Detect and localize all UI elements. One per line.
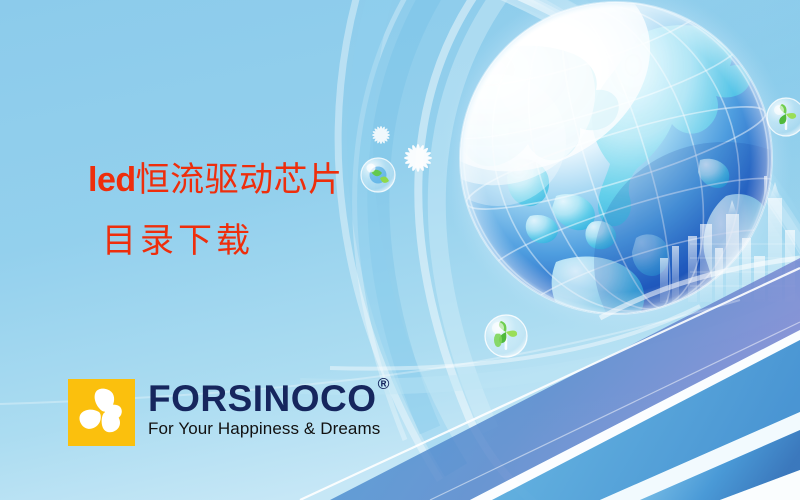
headline-latin: led: [88, 161, 136, 199]
four-petal-pinwheel-icon: [68, 379, 135, 446]
flower-sprite-large: [404, 144, 432, 172]
bubble-leaf: [767, 98, 800, 136]
slide-canvas: led恒流驱动芯片 目录下载 FORSINOCO® For Your Happi…: [0, 0, 800, 500]
registered-trademark-icon: ®: [378, 376, 390, 393]
bubble-windmill: [485, 315, 527, 357]
brand-logo: FORSINOCO® For Your Happiness & Dreams: [68, 379, 389, 446]
headline-block: led恒流驱动芯片 目录下载: [88, 162, 343, 260]
bubble-globe: [361, 158, 395, 192]
headline-line-1: led恒流驱动芯片: [88, 162, 343, 200]
headline-cjk: 恒流驱动芯片: [136, 162, 343, 199]
logo-wordmark: FORSINOCO®: [148, 381, 389, 417]
headline-line-2: 目录下载: [102, 224, 343, 261]
logo-text-block: FORSINOCO® For Your Happiness & Dreams: [148, 381, 389, 439]
flower-sprite-small: [372, 126, 390, 144]
logo-wordmark-text: FORSINOCO: [148, 378, 377, 419]
logo-tagline: For Your Happiness & Dreams: [148, 419, 380, 439]
